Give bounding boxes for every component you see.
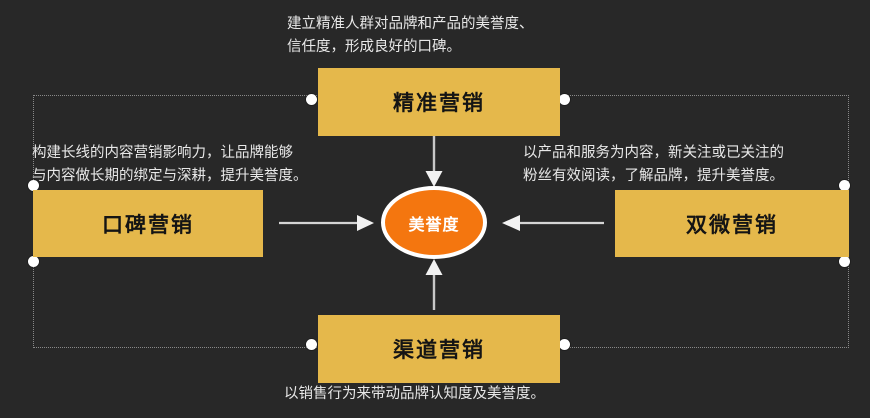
connector-dot-top-right-icon: [559, 94, 570, 105]
center-node-label: 美誉度: [408, 211, 459, 235]
caption-bottom: 以销售行为来带动品牌认知度及美誉度。: [284, 383, 684, 406]
node-box-word-of-mouth-marketing[interactable]: 口碑营销: [33, 190, 263, 257]
node-box-precision-marketing[interactable]: 精准营销: [318, 68, 560, 136]
node-label-left: 口碑营销: [102, 209, 194, 239]
node-box-dual-social-marketing[interactable]: 双微营销: [615, 190, 849, 257]
connector-dot-right-lower-icon: [839, 256, 850, 267]
connector-dot-left-lower-icon: [28, 256, 39, 267]
arrow-bottom-to-center-icon: [420, 258, 448, 310]
connector-dot-bottom-left-icon: [306, 339, 317, 350]
diagram-canvas: 建立精准人群对品牌和产品的美誉度、 信任度，形成良好的口碑。 构建长线的内容营销…: [0, 0, 870, 418]
arrow-right-to-center-icon: [500, 212, 604, 234]
node-box-channel-marketing[interactable]: 渠道营销: [318, 315, 560, 383]
connector-dot-bottom-right-icon: [559, 339, 570, 350]
connector-dot-top-left-icon: [306, 94, 317, 105]
node-label-right: 双微营销: [686, 209, 778, 239]
arrow-left-to-center-icon: [279, 212, 375, 234]
center-node-reputation[interactable]: 美誉度: [381, 186, 487, 259]
node-label-bottom: 渠道营销: [393, 334, 485, 364]
node-label-top: 精准营销: [393, 87, 485, 117]
caption-left: 构建长线的内容营销影响力，让品牌能够 与内容做长期的绑定与深耕，提升美誉度。: [32, 142, 382, 188]
caption-right: 以产品和服务为内容，新关注或已关注的 粉丝有效阅读，了解品牌，提升美誉度。: [523, 142, 863, 188]
arrow-top-to-center-icon: [420, 136, 448, 188]
caption-top: 建立精准人群对品牌和产品的美誉度、 信任度，形成良好的口碑。: [287, 13, 617, 59]
